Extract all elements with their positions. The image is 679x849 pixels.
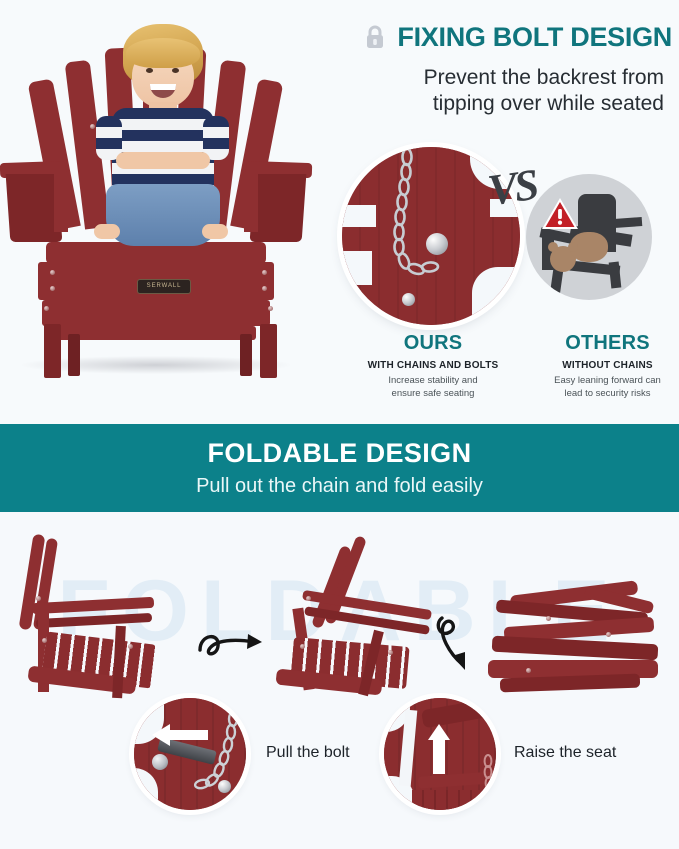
screw-graphic [402,293,415,306]
ours-heading: OURS [330,332,536,355]
foldable-design-banner: FOLDABLE DESIGN Pull out the chain and f… [0,424,679,512]
chair-leg-left [44,324,61,378]
page-title: FIXING BOLT DESIGN [397,22,672,52]
chain-graphic [476,754,496,810]
child-fringe [126,38,200,68]
detail-label-raise-seat: Raise the seat [514,744,616,762]
others-body-line-2: lead to security risks [536,388,679,401]
fixing-bolt-section: SERWALL [0,0,679,424]
child-eye-right [172,68,179,73]
ours-subheading: WITH CHAINS AND BOLTS [330,360,536,371]
child-striped-shirt [112,108,214,190]
ours-body-line-2: ensure safe seating [330,388,536,401]
banner-title: FOLDABLE DESIGN [207,438,471,469]
bolt-subtitle: Prevent the backrest from tipping over w… [292,65,672,118]
arrow-up-icon [428,724,450,774]
bolt-subtitle-line-2: tipping over while seated [292,91,664,117]
bolt-heading-block: FIXING BOLT DESIGN Prevent the backrest … [292,22,672,118]
product-infographic: SERWALL [0,0,679,849]
bolt-head-graphic [426,233,448,255]
warning-triangle-icon [540,196,580,232]
detail-label-pull-bolt: Pull the bolt [266,744,350,762]
others-heading: OTHERS [536,332,679,355]
ours-body-line-1: Increase stability and [330,375,536,388]
detail-raise-seat-image [384,698,496,810]
child-foot-left [94,224,120,239]
detail-pull-bolt-image [134,698,246,810]
fold-stage-1 [10,534,190,702]
others-subheading: WITHOUT CHAINS [536,360,679,371]
chair-leg-right [260,324,277,378]
chain-graphic [194,698,246,810]
hero-chair-photo: SERWALL [0,4,324,414]
child-model [90,24,235,234]
vs-label: VS [485,159,539,216]
child-foot-right [202,224,228,239]
child-arm-right [152,152,210,169]
child-jeans [106,184,220,246]
others-body-line-1: Easy leaning forward can [536,375,679,388]
brand-nameplate: SERWALL [137,279,191,294]
comparison-block: VS [330,140,679,424]
banner-subtitle: Pull out the chain and fold easily [196,475,483,498]
curved-arrow-1-icon [196,616,268,664]
others-detail-image [526,174,652,300]
lock-closed-icon [364,24,386,55]
others-caption: OTHERS WITHOUT CHAINS Easy leaning forwa… [536,332,679,401]
bolt-subtitle-line-1: Prevent the backrest from [292,65,664,91]
fold-stage-2 [262,534,442,702]
fold-stage-3 [486,584,672,706]
foldable-sequence-section: FOLDABLE [0,512,679,849]
child-eye-left [146,68,153,73]
ours-caption: OURS WITH CHAINS AND BOLTS Increase stab… [330,332,536,401]
